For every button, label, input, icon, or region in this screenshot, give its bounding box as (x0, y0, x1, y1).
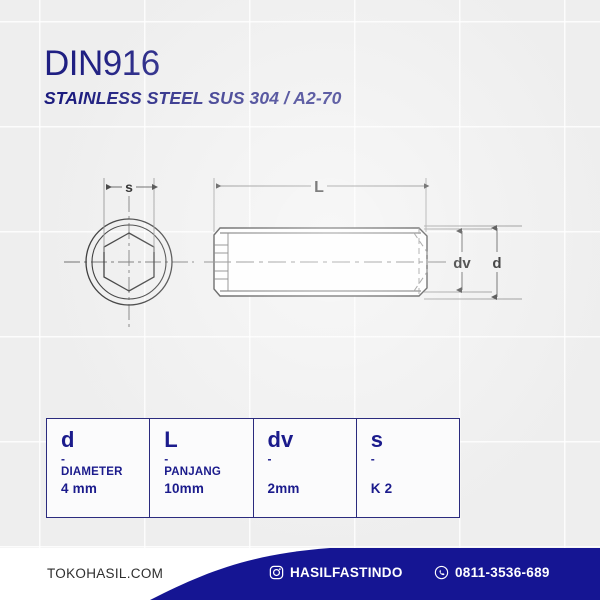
spec-divider: - (268, 453, 356, 465)
footer-website[interactable]: TOKOHASIL.COM (47, 566, 163, 581)
spec-name (371, 465, 459, 480)
product-spec-card: DIN916 STAINLESS STEEL SUS 304 / A2-70 (0, 0, 600, 600)
spec-name: PANJANG (164, 465, 252, 480)
material-subtitle: STAINLESS STEEL SUS 304 / A2-70 (44, 88, 524, 109)
whatsapp-number: 0811-3536-689 (455, 565, 550, 580)
footer-bar: TOKOHASIL.COM HASILFASTINDO 0811-3536-68… (0, 548, 600, 600)
spec-value: 2mm (268, 481, 356, 498)
spec-cell-L: L - PANJANG 10mm (150, 419, 253, 517)
spec-symbol: L (164, 428, 252, 451)
instagram-handle: HASILFASTINDO (290, 565, 403, 580)
spec-name (268, 465, 356, 480)
spec-symbol: d (61, 428, 149, 451)
whatsapp-icon (434, 565, 449, 580)
spec-cell-s: s - K 2 (357, 419, 459, 517)
spec-divider: - (371, 453, 459, 465)
page-title: DIN916 (44, 46, 524, 83)
footer-instagram[interactable]: HASILFASTINDO (269, 565, 403, 580)
spec-value: 4 mm (61, 481, 149, 498)
spec-value: 10mm (164, 481, 252, 498)
instagram-icon (269, 565, 284, 580)
spec-value: K 2 (371, 481, 459, 498)
spec-divider: - (164, 453, 252, 465)
spec-name: DIAMETER (61, 465, 149, 480)
heading-block: DIN916 STAINLESS STEEL SUS 304 / A2-70 (44, 46, 524, 109)
spec-symbol: s (371, 428, 459, 451)
spec-symbol: dv (268, 428, 356, 451)
spec-cell-dv: dv - 2mm (254, 419, 357, 517)
spec-cell-d: d - DIAMETER 4 mm (47, 419, 150, 517)
footer-whatsapp[interactable]: 0811-3536-689 (434, 565, 550, 580)
specification-table: d - DIAMETER 4 mm L - PANJANG 10mm dv - … (46, 418, 460, 518)
spec-divider: - (61, 453, 149, 465)
